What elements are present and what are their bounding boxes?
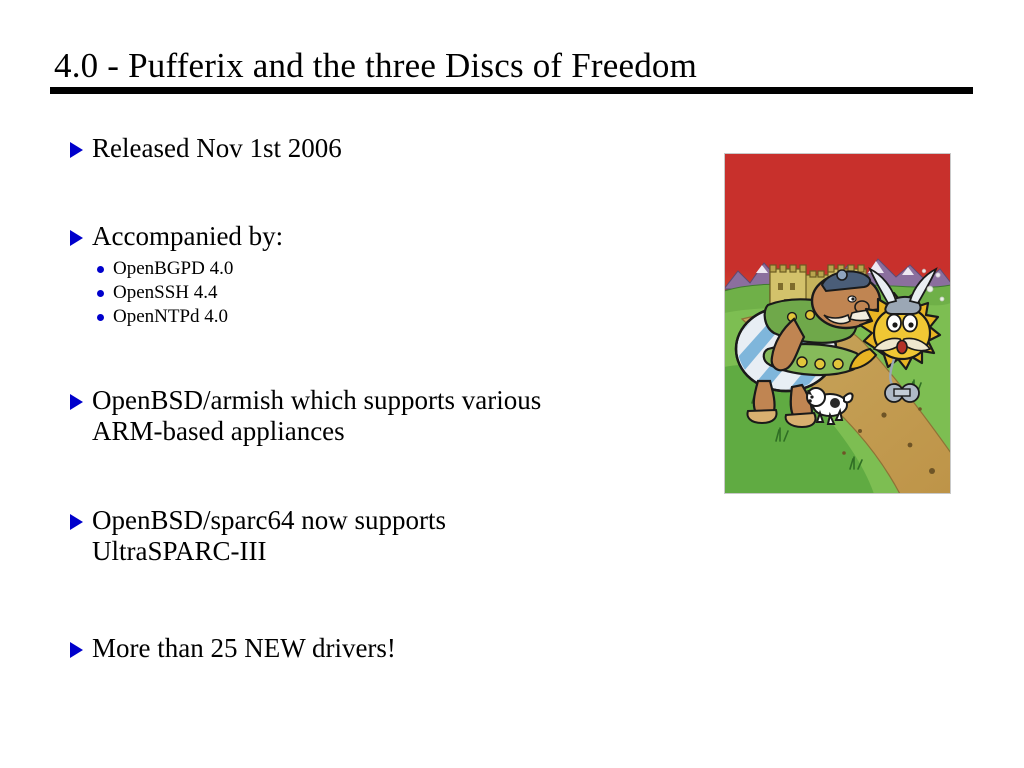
dot-bullet-icon <box>97 290 104 297</box>
dot-bullet-icon <box>97 266 104 273</box>
triangle-right-icon <box>70 514 83 530</box>
bullet-text: OpenBSD/armish which supports various <box>92 385 541 416</box>
bullet-row: Accompanied by: <box>70 221 690 252</box>
bullet-text: Released Nov 1st 2006 <box>92 133 342 164</box>
subbullet-list: OpenBGPD 4.0 OpenSSH 4.4 OpenNTPd 4.0 <box>97 257 690 329</box>
subbullet-text: OpenSSH 4.4 <box>113 281 218 304</box>
bullet-row: Released Nov 1st 2006 <box>70 133 690 164</box>
dot-bullet-icon <box>97 314 104 321</box>
bullet-text: OpenBSD/sparc64 now supports <box>92 505 446 536</box>
triangle-right-icon <box>70 142 83 158</box>
bullet-item-sparc64: OpenBSD/sparc64 now supports UltraSPARC-… <box>70 505 690 567</box>
subbullet-item-openssh: OpenSSH 4.4 <box>97 281 690 305</box>
triangle-right-icon <box>70 642 83 658</box>
bullet-item-new-drivers: More than 25 NEW drivers! <box>70 633 690 664</box>
bullet-row: More than 25 NEW drivers! <box>70 633 690 664</box>
bullet-row: OpenBSD/armish which supports various <box>70 385 690 416</box>
bullet-item-armish: OpenBSD/armish which supports various AR… <box>70 385 690 447</box>
subbullet-item-openntpd: OpenNTPd 4.0 <box>97 305 690 329</box>
subbullet-item-openbgpd: OpenBGPD 4.0 <box>97 257 690 281</box>
title-underline-rule <box>50 87 973 94</box>
bullet-text-continuation: ARM-based appliances <box>92 416 690 447</box>
release-artwork-image <box>724 153 951 494</box>
bullet-item-accompanied-by: Accompanied by: OpenBGPD 4.0 OpenSSH 4.4… <box>70 221 690 329</box>
subbullet-text: OpenBGPD 4.0 <box>113 257 233 280</box>
bullet-text: More than 25 NEW drivers! <box>92 633 396 664</box>
triangle-right-icon <box>70 230 83 246</box>
bullet-text-continuation: UltraSPARC-III <box>92 536 690 567</box>
page-title: 4.0 - Pufferix and the three Discs of Fr… <box>54 46 697 86</box>
bullet-row: OpenBSD/sparc64 now supports <box>70 505 690 536</box>
bullet-item-released: Released Nov 1st 2006 <box>70 133 690 164</box>
bullet-text: Accompanied by: <box>92 221 283 252</box>
subbullet-text: OpenNTPd 4.0 <box>113 305 228 328</box>
triangle-right-icon <box>70 394 83 410</box>
